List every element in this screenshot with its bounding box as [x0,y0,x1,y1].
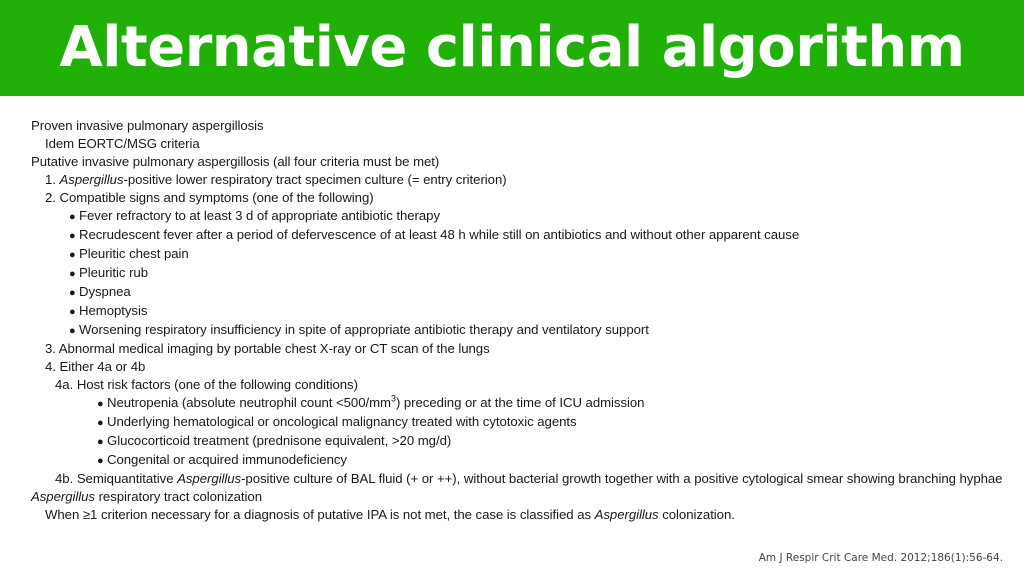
list-item: ●Congenital or acquired immunodeficiency [97,451,1003,470]
bullet-icon: ● [69,208,79,226]
criterion-4a-number: 4a. [55,377,73,392]
criterion-2: 2. Compatible signs and symptoms (one of… [45,189,1003,207]
colonization-detail: When ≥1 criterion necessary for a diagno… [45,506,1003,524]
criterion-3-text: Abnormal medical imaging by portable che… [59,341,490,356]
list-item: ●Pleuritic chest pain [69,245,1003,264]
list-item: ●Underlying hematological or oncological… [97,413,1003,432]
bullet-icon: ● [69,246,79,264]
algorithm-criteria-body: Proven invasive pulmonary aspergillosis … [31,117,1003,524]
colonization-heading-italic: Aspergillus [31,489,95,504]
criterion-4b-post: -positive culture of BAL fluid (+ or ++)… [241,471,1002,486]
criterion-4-text: Either 4a or 4b [60,359,146,374]
list-item: ●Recrudescent fever after a period of de… [69,226,1003,245]
colonization-detail-pre: When ≥1 criterion necessary for a diagno… [45,507,595,522]
criterion-4b-pre: Semiquantitative [77,471,177,486]
criterion-4a-text: Host risk factors (one of the following … [77,377,358,392]
criterion-4a-bullet-0-post: ) preceding or at the time of ICU admiss… [396,395,645,410]
criterion-4b-italic: Aspergillus [177,471,241,486]
list-item: ●Hemoptysis [69,302,1003,321]
bullet-icon: ● [97,433,107,451]
criterion-1: 1. Aspergillus-positive lower respirator… [45,171,1003,189]
criterion-3: 3. Abnormal medical imaging by portable … [45,340,1003,358]
colonization-detail-post: colonization. [659,507,735,522]
criterion-1-text: -positive lower respiratory tract specim… [123,172,506,187]
list-item: ●Worsening respiratory insufficiency in … [69,321,1003,340]
criterion-2-bullet-4: Dyspnea [79,284,131,299]
source-citation: Am J Respir Crit Care Med. 2012;186(1):5… [759,552,1003,564]
colonization-heading: Aspergillus respiratory tract colonizati… [31,488,1003,506]
bullet-icon: ● [69,284,79,302]
criterion-1-number: 1. [45,172,56,187]
bullet-icon: ● [69,303,79,321]
criterion-4a-bullet-1: Underlying hematological or oncological … [107,414,577,429]
proven-subitem: Idem EORTC/MSG criteria [45,135,1003,153]
criterion-2-bullet-0: Fever refractory to at least 3 d of appr… [79,208,440,223]
bullet-icon: ● [69,265,79,283]
criterion-1-italic: Aspergillus [60,172,124,187]
bullet-icon: ● [97,452,107,470]
criterion-4b-number: 4b. [55,471,73,486]
criterion-2-bullet-3: Pleuritic rub [79,265,148,280]
criterion-2-bullet-2: Pleuritic chest pain [79,246,189,261]
criterion-4: 4. Either 4a or 4b [45,358,1003,376]
criterion-2-number: 2. [45,190,56,205]
title-banner: Alternative clinical algorithm [0,0,1024,96]
page-title: Alternative clinical algorithm [59,20,964,76]
criterion-4a: 4a. Host risk factors (one of the follow… [55,376,1003,394]
putative-heading: Putative invasive pulmonary aspergillosi… [31,153,1003,171]
list-item: ●Fever refractory to at least 3 d of app… [69,207,1003,226]
list-item: ●Dyspnea [69,283,1003,302]
criterion-4a-bullet-0-pre: Neutropenia (absolute neutrophil count <… [107,395,391,410]
criterion-2-bullet-1: Recrudescent fever after a period of def… [79,227,799,242]
criterion-4-number: 4. [45,359,56,374]
list-item: ●Neutropenia (absolute neutrophil count … [97,394,1003,413]
list-item: ●Glucocorticoid treatment (prednisone eq… [97,432,1003,451]
criterion-2-bullet-5: Hemoptysis [79,303,147,318]
criterion-4a-bullet-2: Glucocorticoid treatment (prednisone equ… [107,433,451,448]
bullet-icon: ● [97,414,107,432]
criterion-2-bullet-6: Worsening respiratory insufficiency in s… [79,322,649,337]
criterion-2-text: Compatible signs and symptoms (one of th… [60,190,374,205]
colonization-detail-italic: Aspergillus [595,507,659,522]
colonization-heading-rest: respiratory tract colonization [95,489,262,504]
proven-heading: Proven invasive pulmonary aspergillosis [31,117,1003,135]
bullet-icon: ● [69,322,79,340]
bullet-icon: ● [97,395,107,413]
criterion-4b: 4b. Semiquantitative Aspergillus-positiv… [55,470,1003,488]
criterion-4a-bullet-3: Congenital or acquired immunodeficiency [107,452,347,467]
criterion-3-number: 3. [45,341,56,356]
bullet-icon: ● [69,227,79,245]
list-item: ●Pleuritic rub [69,264,1003,283]
